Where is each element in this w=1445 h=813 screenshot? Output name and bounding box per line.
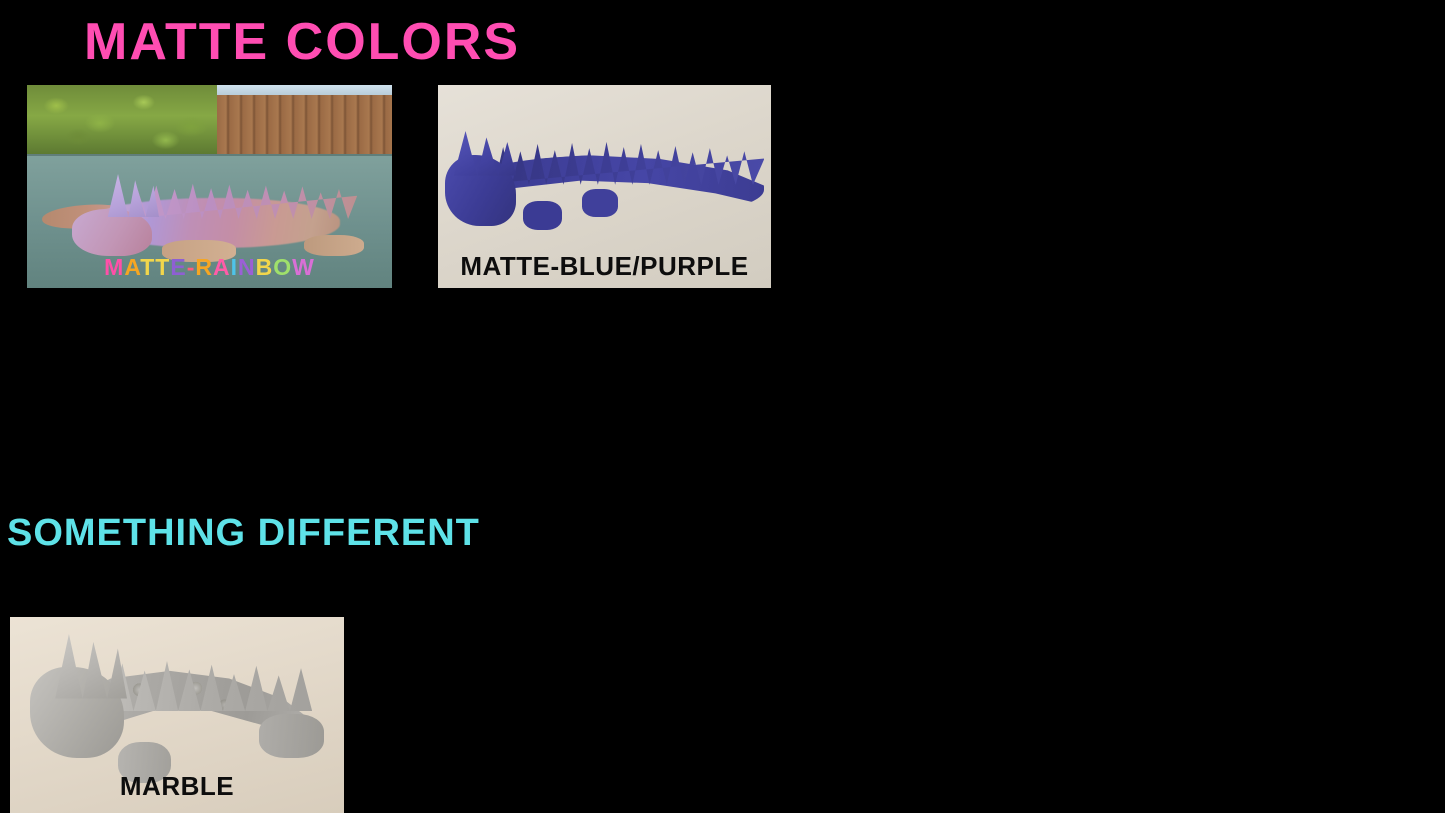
caption-letter-6: R — [195, 254, 213, 280]
product-card-caption-marble: MARBLE — [10, 773, 344, 799]
caption-letter-12: W — [292, 254, 315, 280]
dragon-figure-marble — [30, 633, 324, 790]
caption-letter-8: I — [231, 254, 238, 280]
product-card-caption-matte-rainbow: MATTE-RAINBOW — [27, 256, 392, 279]
product-card-marble[interactable]: MARBLE — [7, 614, 347, 813]
caption-letter-1: A — [124, 254, 140, 280]
dragon-rear-foot — [304, 235, 364, 256]
dragon-front-leg — [523, 201, 562, 231]
caption-letter-9: N — [238, 254, 256, 280]
pool-edge-line — [27, 154, 392, 156]
wooden-fence-backdrop — [217, 85, 392, 154]
product-card-caption-matte-blue-purple: MATTE-BLUE/PURPLE — [438, 253, 771, 279]
dragon-horns — [51, 633, 127, 699]
caption-letter-11: O — [273, 254, 292, 280]
caption-letter-4: E — [170, 254, 186, 280]
caption-letter-10: B — [256, 254, 274, 280]
product-color-options-board: MATTE COLORS MATTE-RAINBOW — [0, 0, 1445, 813]
dragon-tail — [259, 714, 324, 758]
section-heading-matte-colors: MATTE COLORS — [84, 16, 520, 68]
section-heading-something-different: SOMETHING DIFFERENT — [7, 514, 480, 552]
product-card-matte-rainbow[interactable]: MATTE-RAINBOW — [24, 82, 395, 291]
dragon-figure-blue-purple — [445, 126, 771, 240]
caption-letter-7: A — [213, 254, 231, 280]
caption-letter-0: M — [104, 254, 124, 280]
product-card-matte-blue-purple[interactable]: MATTE-BLUE/PURPLE — [435, 82, 774, 291]
dragon-rear-leg — [582, 189, 618, 216]
caption-letter-2: T — [140, 254, 155, 280]
dragon-horns — [451, 130, 516, 175]
caption-letter-3: T — [155, 254, 170, 280]
dragon-horns — [102, 172, 159, 217]
